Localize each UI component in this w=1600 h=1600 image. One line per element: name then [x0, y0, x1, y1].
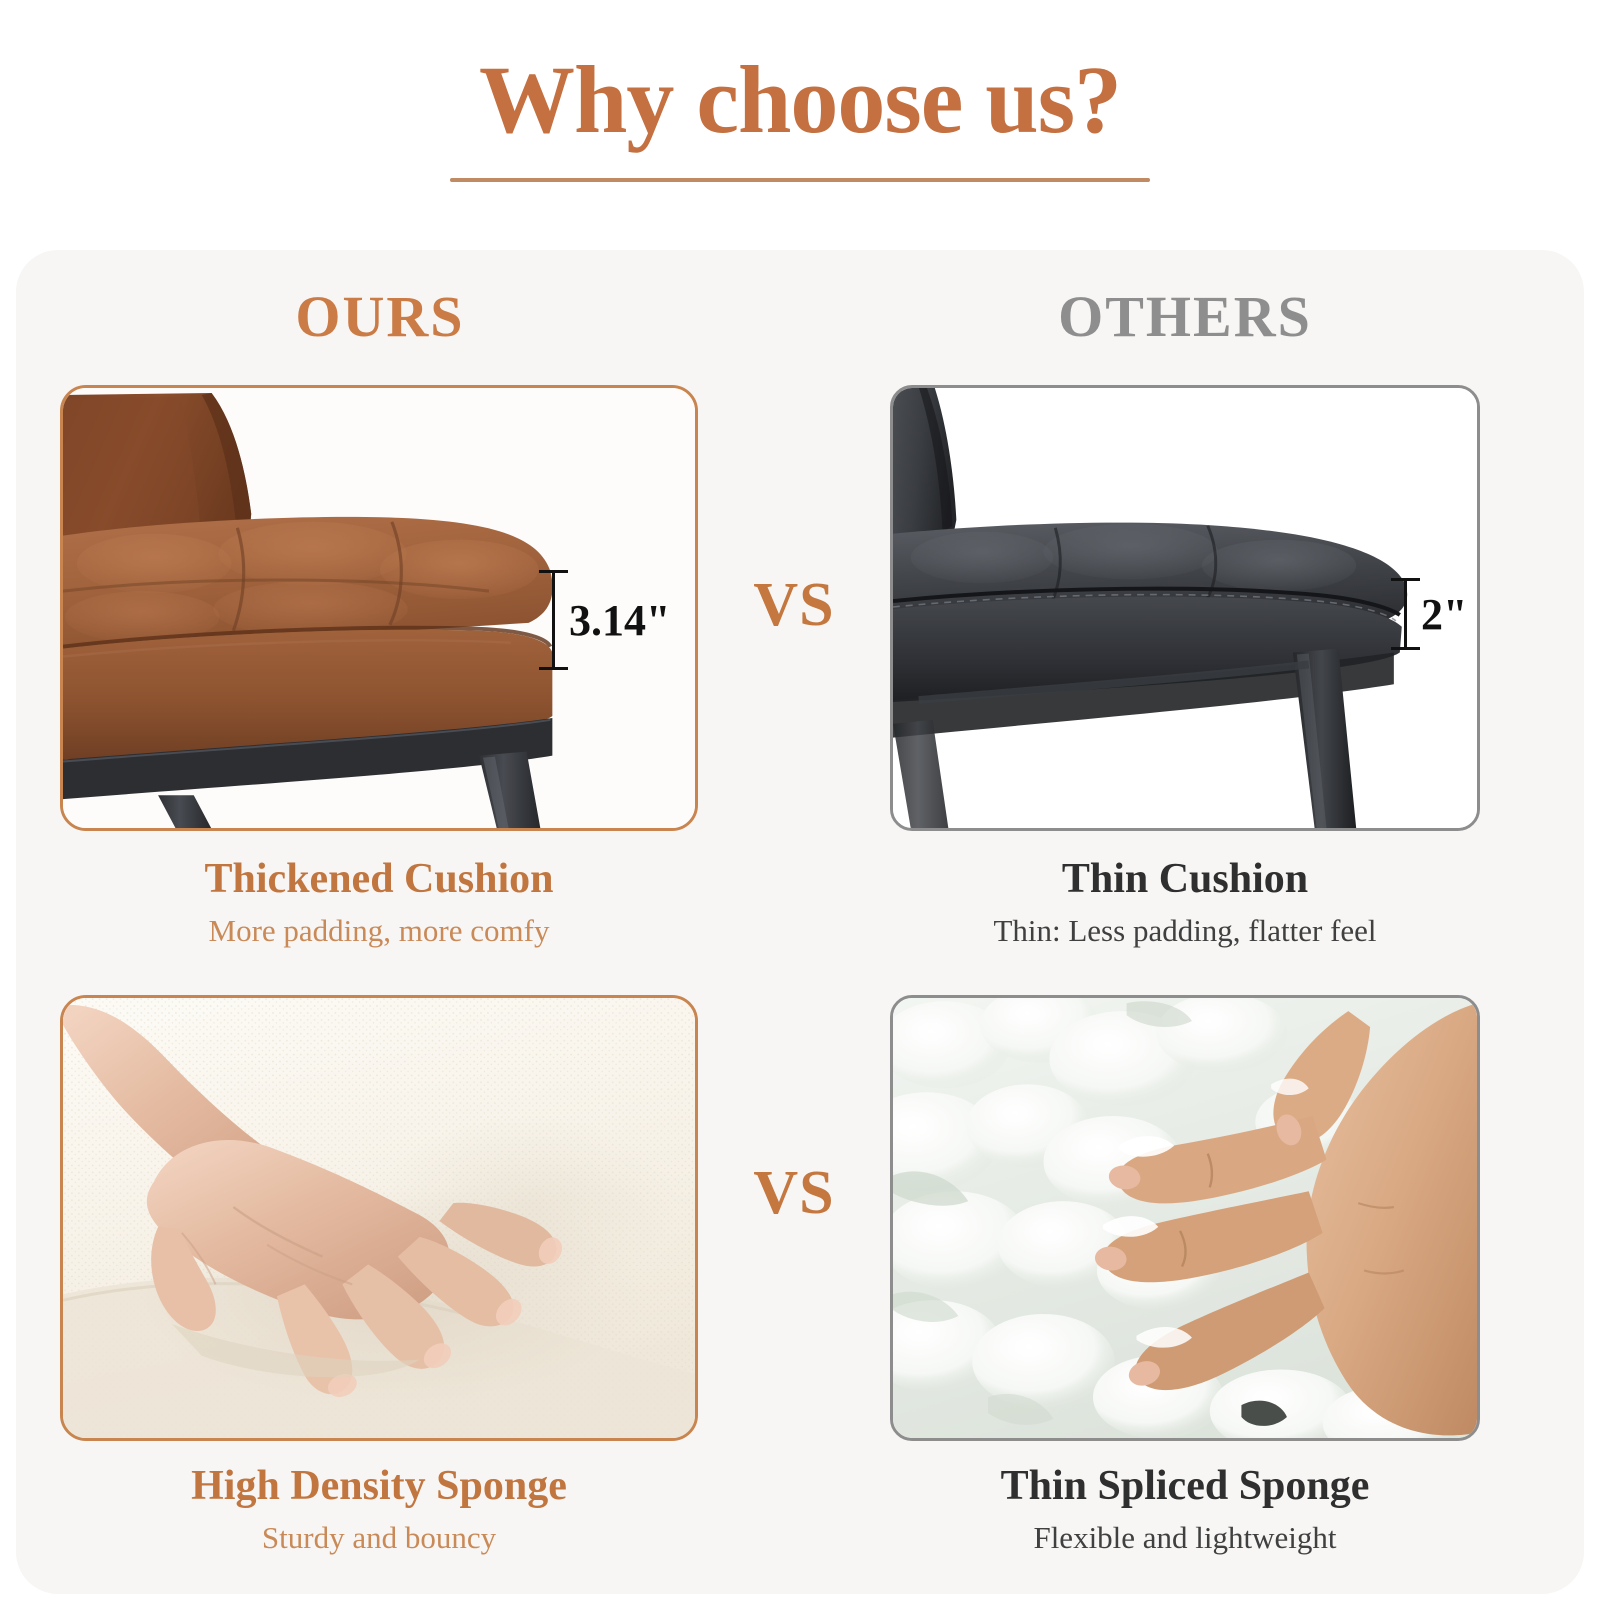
caption-subtitle: Sturdy and bouncy [60, 1519, 698, 1556]
infographic-page: Why choose us? OURS OTHERS [0, 0, 1600, 1600]
caption-subtitle: Thin: Less padding, flatter feel [890, 912, 1480, 949]
image-card-others-thin-cushion[interactable] [890, 385, 1480, 831]
dimension-line-icon [1404, 578, 1407, 650]
caption-title: High Density Sponge [60, 1462, 698, 1510]
caption-others-thin-cushion: Thin Cushion Thin: Less padding, flatter… [890, 855, 1480, 949]
image-card-ours-high-density-sponge[interactable] [60, 995, 698, 1441]
black-leather-chair-thin-cushion-photo [893, 388, 1477, 828]
caption-title: Thin Spliced Sponge [890, 1462, 1480, 1510]
caption-others-spliced-sponge: Thin Spliced Sponge Flexible and lightwe… [890, 1462, 1480, 1556]
caption-title: Thickened Cushion [60, 855, 698, 903]
hand-pressing-high-density-foam-photo [63, 998, 695, 1438]
caption-subtitle: More padding, more comfy [60, 912, 698, 949]
caption-ours-thick-cushion: Thickened Cushion More padding, more com… [60, 855, 698, 949]
page-header: Why choose us? [0, 52, 1600, 182]
dimension-value-ours: 3.14" [569, 595, 670, 646]
title-underline-divider [450, 178, 1150, 182]
image-card-others-spliced-sponge[interactable] [890, 995, 1480, 1441]
page-title: Why choose us? [0, 52, 1600, 148]
dimension-line-icon [552, 570, 555, 670]
caption-title: Thin Cushion [890, 855, 1480, 903]
vs-badge-row-2: VS [699, 1158, 889, 1229]
column-heading-others: OTHERS [890, 283, 1480, 350]
dimension-annotation-ours: 3.14" [552, 570, 670, 670]
vs-badge-row-1: VS [699, 570, 889, 641]
hand-pressing-fiber-fill-photo [893, 998, 1477, 1438]
dimension-value-others: 2" [1421, 589, 1467, 640]
column-heading-ours: OURS [60, 283, 700, 350]
caption-ours-high-density-sponge: High Density Sponge Sturdy and bouncy [60, 1462, 698, 1556]
dimension-annotation-others: 2" [1404, 578, 1467, 650]
caption-subtitle: Flexible and lightweight [890, 1519, 1480, 1556]
